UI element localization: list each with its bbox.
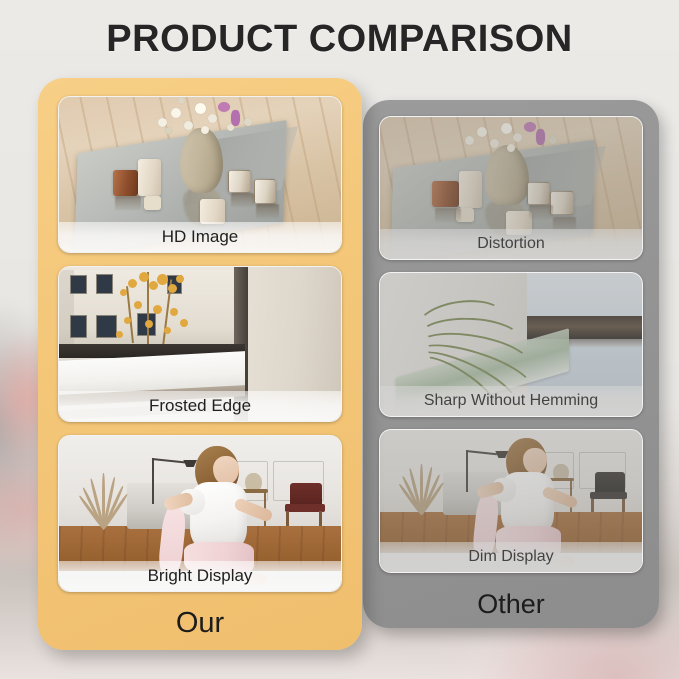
other-panel: Distortion Sharp Without	[363, 100, 659, 628]
card-label: Distortion	[380, 229, 642, 259]
card-label: Bright Display	[59, 561, 341, 591]
comparison-infographic: PRODUCT COMPARISON	[0, 0, 679, 679]
card-label: Sharp Without Hemming	[380, 386, 642, 416]
card-sharp-without-hemming[interactable]: Sharp Without Hemming	[379, 272, 643, 416]
card-label: Frosted Edge	[59, 391, 341, 421]
our-panel-footer: Our	[58, 607, 342, 640]
card-dim-display[interactable]: Dim Display	[379, 429, 643, 573]
card-label: Dim Display	[380, 542, 642, 572]
card-bright-display[interactable]: Bright Display	[58, 435, 342, 592]
card-hd-image[interactable]: HD Image	[58, 96, 342, 253]
card-label: HD Image	[59, 222, 341, 252]
card-distortion[interactable]: Distortion	[379, 116, 643, 260]
page-title: PRODUCT COMPARISON	[0, 18, 679, 61]
card-frosted-edge[interactable]: Frosted Edge	[58, 266, 342, 423]
our-panel: HD Image	[38, 78, 362, 650]
other-panel-footer: Other	[379, 589, 643, 620]
